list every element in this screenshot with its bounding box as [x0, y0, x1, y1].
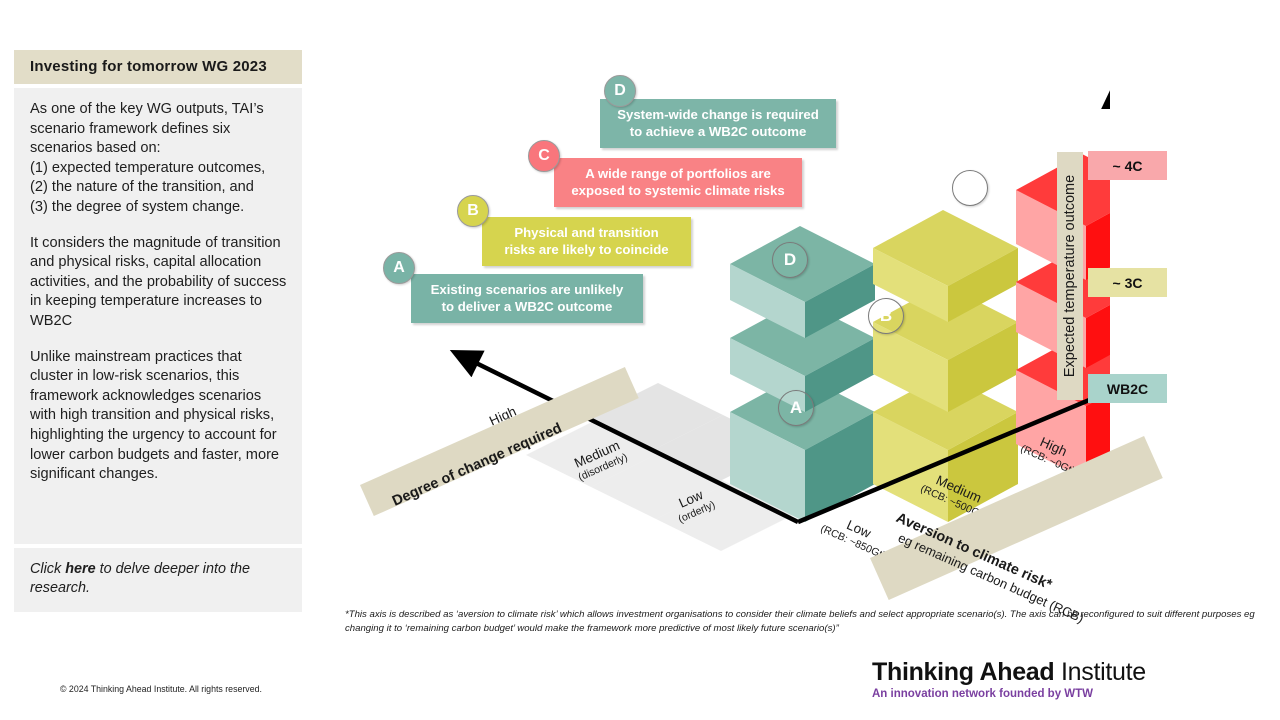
temp-label-3c: ~ 3C: [1088, 268, 1167, 297]
scenario-cube-chart: A D B C High (transfor- mational) Medium…: [330, 60, 1110, 580]
callout-B-badge[interactable]: B: [457, 195, 489, 227]
temp-label-wb2c: WB2C: [1088, 374, 1167, 403]
callout-D-badge[interactable]: D: [604, 75, 636, 107]
sidebar-cta[interactable]: Click here to delve deeper into the rese…: [14, 548, 302, 612]
marker-D-label: D: [784, 250, 796, 270]
marker-A-label: A: [790, 398, 802, 418]
logo-bold: Thinking Ahead: [872, 658, 1054, 686]
marker-B[interactable]: B: [868, 298, 904, 334]
slide-canvas: Investing for tomorrow WG 2023 As one of…: [0, 0, 1280, 720]
cta-link[interactable]: here: [65, 561, 95, 577]
callout-A-badge[interactable]: A: [383, 252, 415, 284]
marker-B-label: B: [880, 306, 892, 326]
temperature-axis-title: Expected temperature outcome: [1057, 152, 1083, 400]
sidebar-paragraph-1: As one of the key WG outputs, TAI’s scen…: [30, 100, 288, 218]
cta-prefix: Click: [30, 561, 65, 577]
copyright: © 2024 Thinking Ahead Institute. All rig…: [60, 684, 262, 694]
callout-A-badge-label: A: [393, 259, 405, 277]
temp-label-4c-text: ~ 4C: [1113, 158, 1143, 174]
temp-label-wb2c-text: WB2C: [1107, 381, 1148, 397]
marker-A[interactable]: A: [778, 390, 814, 426]
logo-light: Institute: [1054, 658, 1146, 686]
sidebar-paragraph-2: It considers the magnitude of transition…: [30, 234, 288, 332]
logo-tagline: An innovation network founded by WTW: [872, 688, 1146, 700]
callout-C-badge[interactable]: C: [528, 140, 560, 172]
temp-label-4c: ~ 4C: [1088, 151, 1167, 180]
logo-wordmark: Thinking Ahead Institute: [872, 658, 1146, 687]
temp-label-3c-text: ~ 3C: [1113, 275, 1143, 291]
footnote: *This axis is described as ‘aversion to …: [345, 608, 1255, 635]
callout-D-badge-label: D: [614, 82, 626, 100]
sidebar-title: Investing for tomorrow WG 2023: [14, 50, 302, 84]
sidebar: Investing for tomorrow WG 2023 As one of…: [14, 50, 302, 612]
thinking-ahead-institute-logo: Thinking Ahead Institute An innovation n…: [872, 658, 1146, 700]
marker-D[interactable]: D: [772, 242, 808, 278]
marker-C[interactable]: C: [952, 170, 988, 206]
temperature-axis-title-label: Expected temperature outcome: [1062, 175, 1078, 377]
callout-C-badge-label: C: [538, 147, 550, 165]
sidebar-body: As one of the key WG outputs, TAI’s scen…: [14, 88, 302, 544]
sidebar-paragraph-3: Unlike mainstream practices that cluster…: [30, 348, 288, 485]
callout-B-badge-label: B: [467, 202, 479, 220]
marker-C-label: C: [964, 178, 976, 198]
